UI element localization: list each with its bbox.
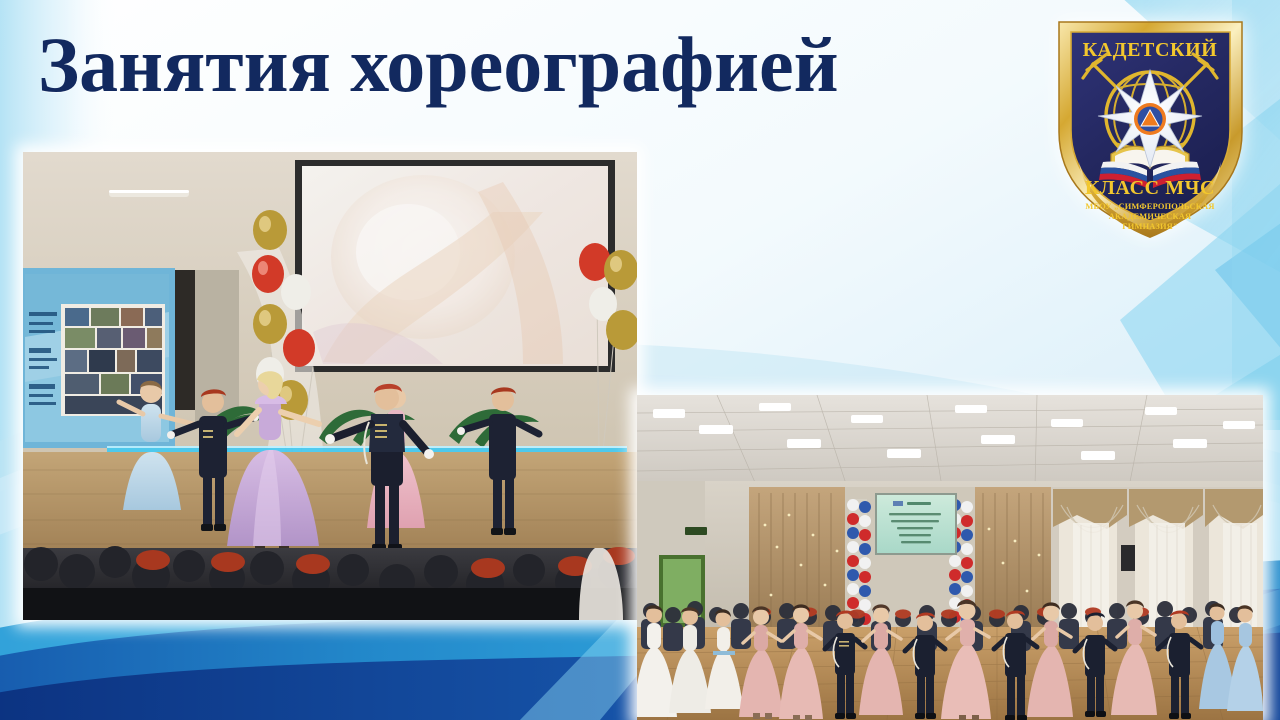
emblem-org-line-3: ГИМНАЗИЯ"	[1122, 222, 1178, 231]
front-row-left-white-girls	[637, 605, 743, 717]
emblem-org-line-1: МБОУ „СИМФЕРОПОЛЬСКАЯ	[1085, 202, 1214, 211]
kadetskiy-klass-mchs-emblem: КАДЕТСКИЙ	[1043, 12, 1258, 242]
front-row-formation	[739, 600, 1201, 720]
photo-ballroom-formation	[637, 395, 1263, 720]
photo-2-illustration	[637, 395, 1263, 720]
photo-stage-dance-performance	[23, 152, 637, 620]
slide-title: Занятия хореографией	[38, 24, 839, 106]
emblem-org-line-2: АКАДЕМИЧЕСКАЯ	[1109, 212, 1192, 221]
photo-1-illustration	[23, 152, 637, 620]
presentation-slide: Занятия хореографией	[0, 0, 1280, 720]
emblem-shield-svg: КАДЕТСКИЙ	[1043, 12, 1258, 242]
emblem-bottom-label: КЛАСС МЧС	[1085, 177, 1215, 199]
